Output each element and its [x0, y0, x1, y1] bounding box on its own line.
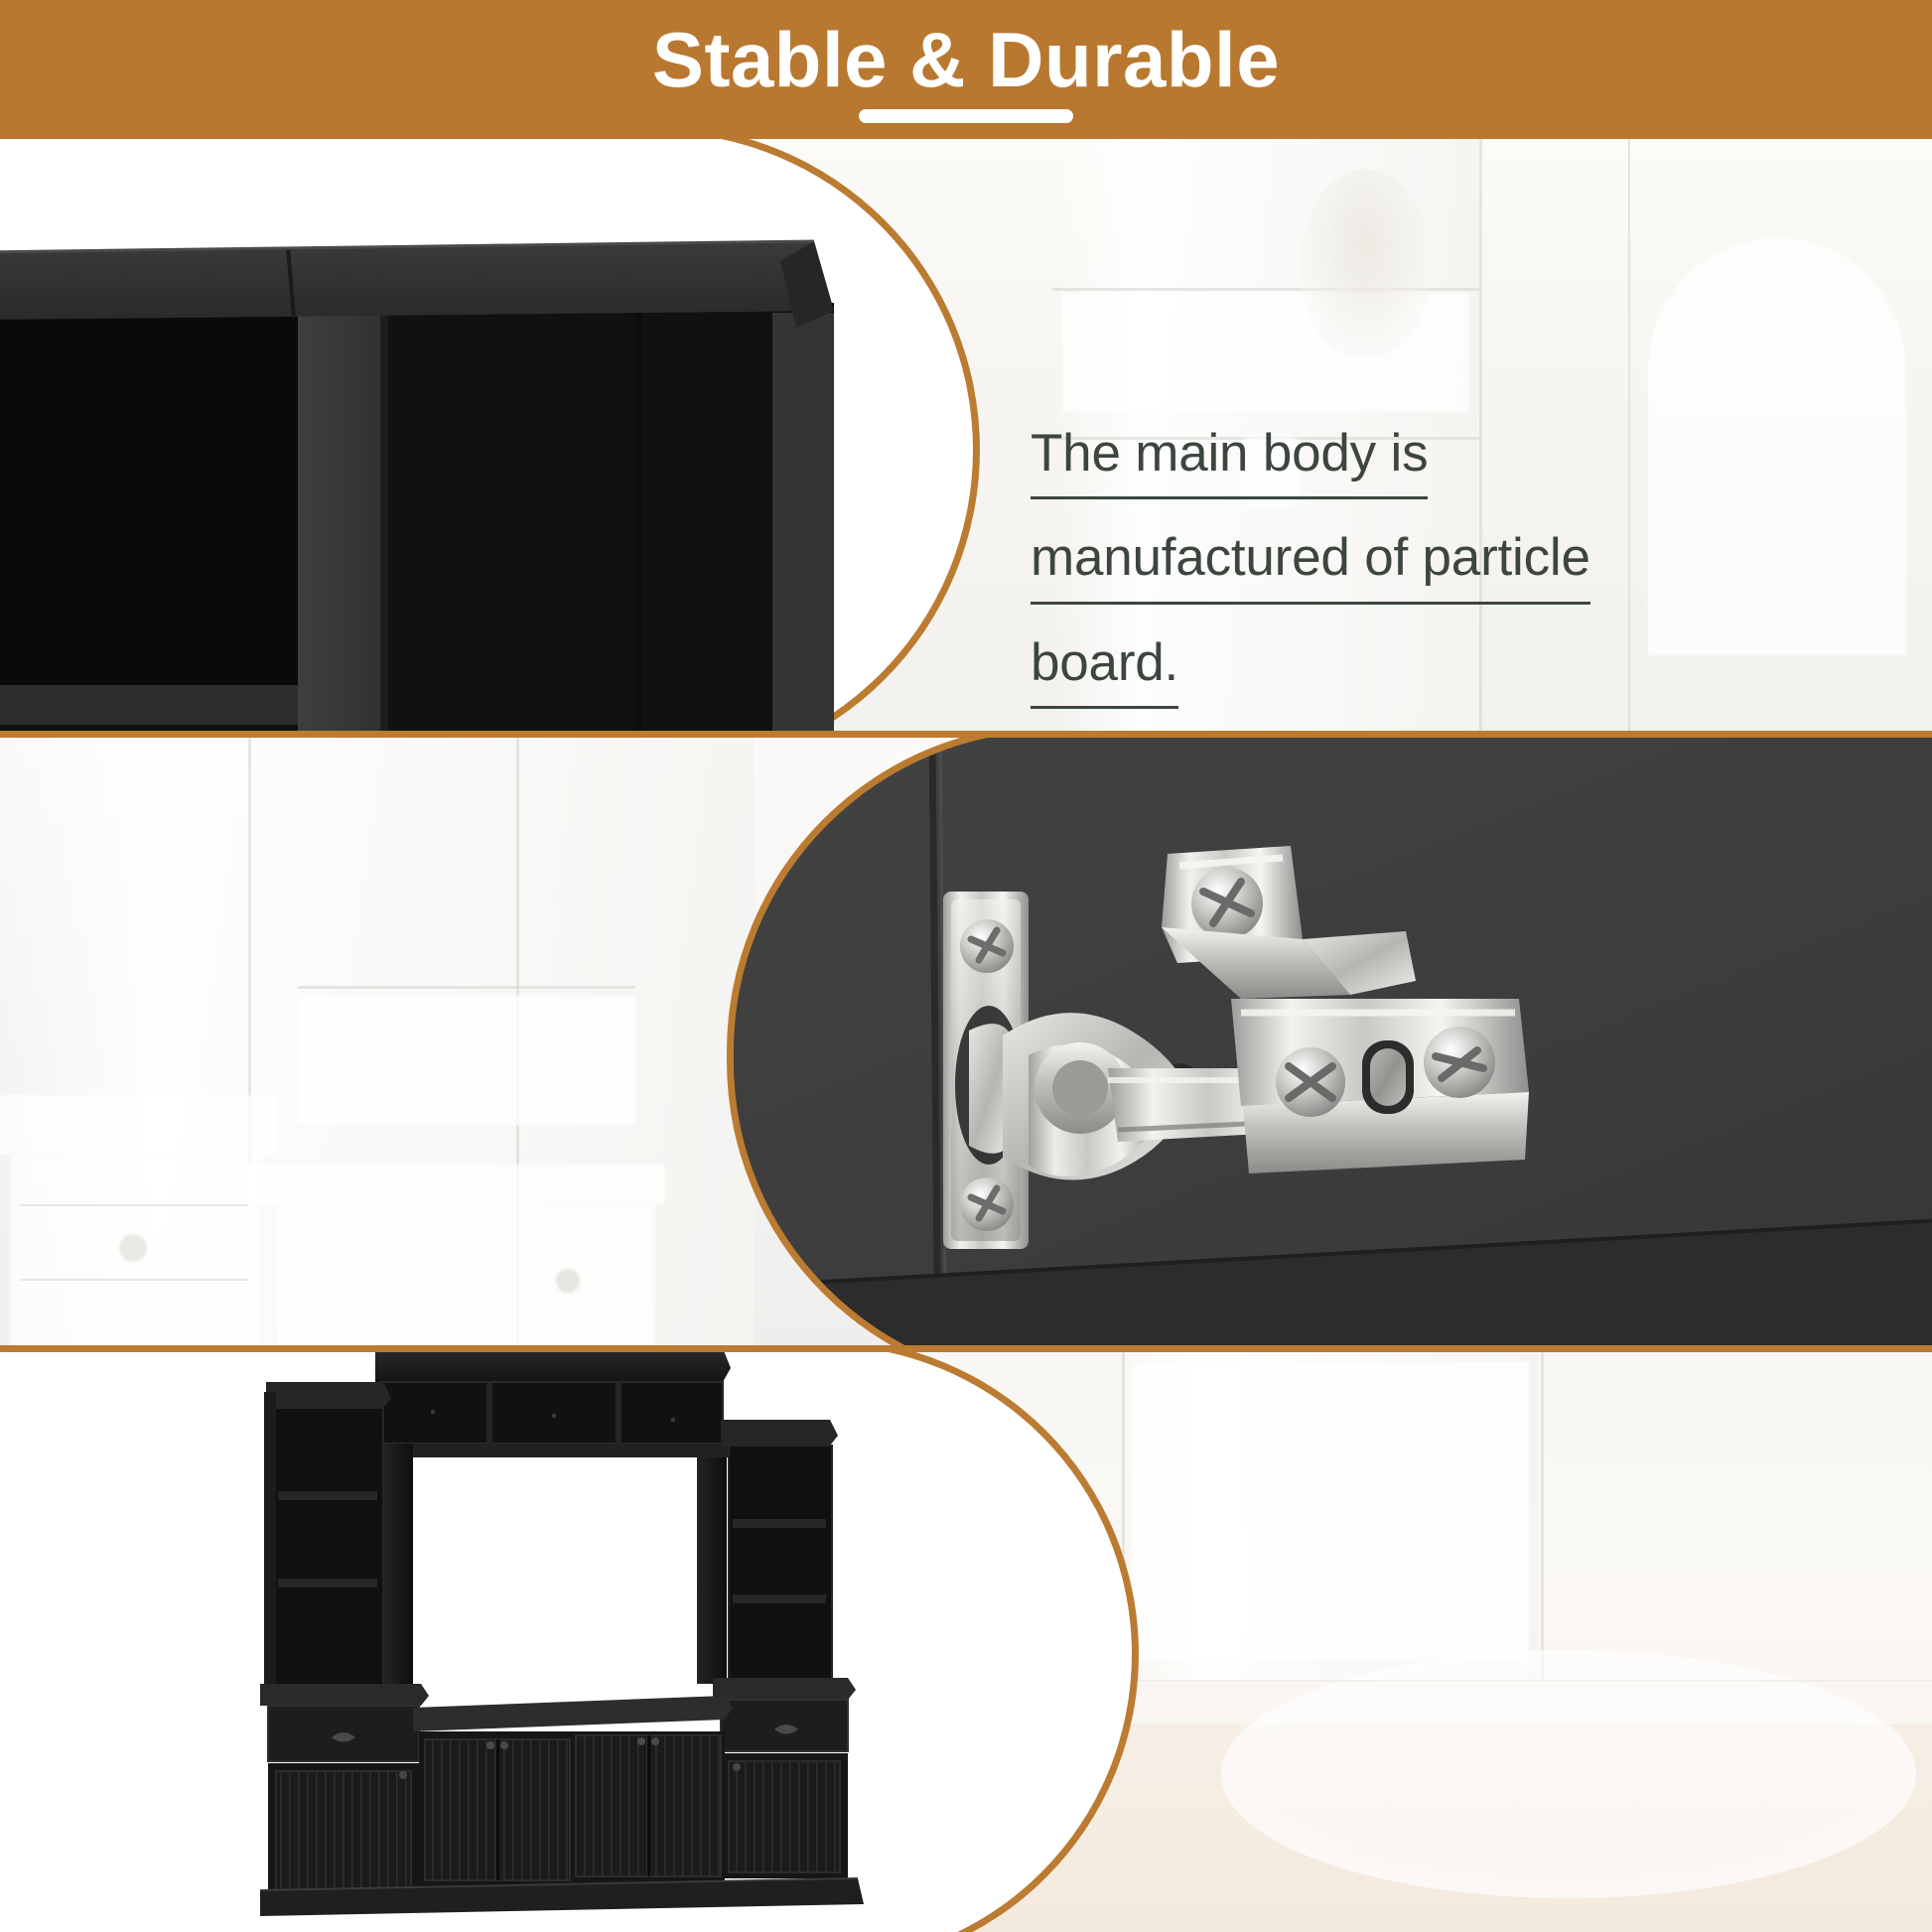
feature-panel-3: Sturdy anti-dumping device to increase t…: [0, 1352, 1932, 1932]
panel-divider-1: [0, 731, 1932, 738]
feature-panel-2: Good quality hardware accessories.: [0, 738, 1932, 1352]
callout-line: The main body is: [1031, 419, 1904, 499]
cabinet-closeup-image: [0, 233, 894, 738]
feature-panel-1: The main body is manufactured of particl…: [0, 139, 1932, 738]
cabinet-hinge-image: [933, 832, 1569, 1289]
callout-line: manufactured of particle: [1031, 523, 1904, 604]
panel-divider-2: [0, 1345, 1932, 1352]
page-title: Stable & Durable: [0, 10, 1932, 109]
infographic-page: Stable & Durable: [0, 0, 1932, 1932]
callout-text-1: The main body is manufactured of particl…: [1031, 419, 1904, 709]
header-banner: Stable & Durable: [0, 0, 1932, 139]
title-underline-bar: [859, 109, 1073, 123]
callout-line: board.: [1031, 628, 1904, 709]
entertainment-center-image: [226, 1352, 872, 1928]
